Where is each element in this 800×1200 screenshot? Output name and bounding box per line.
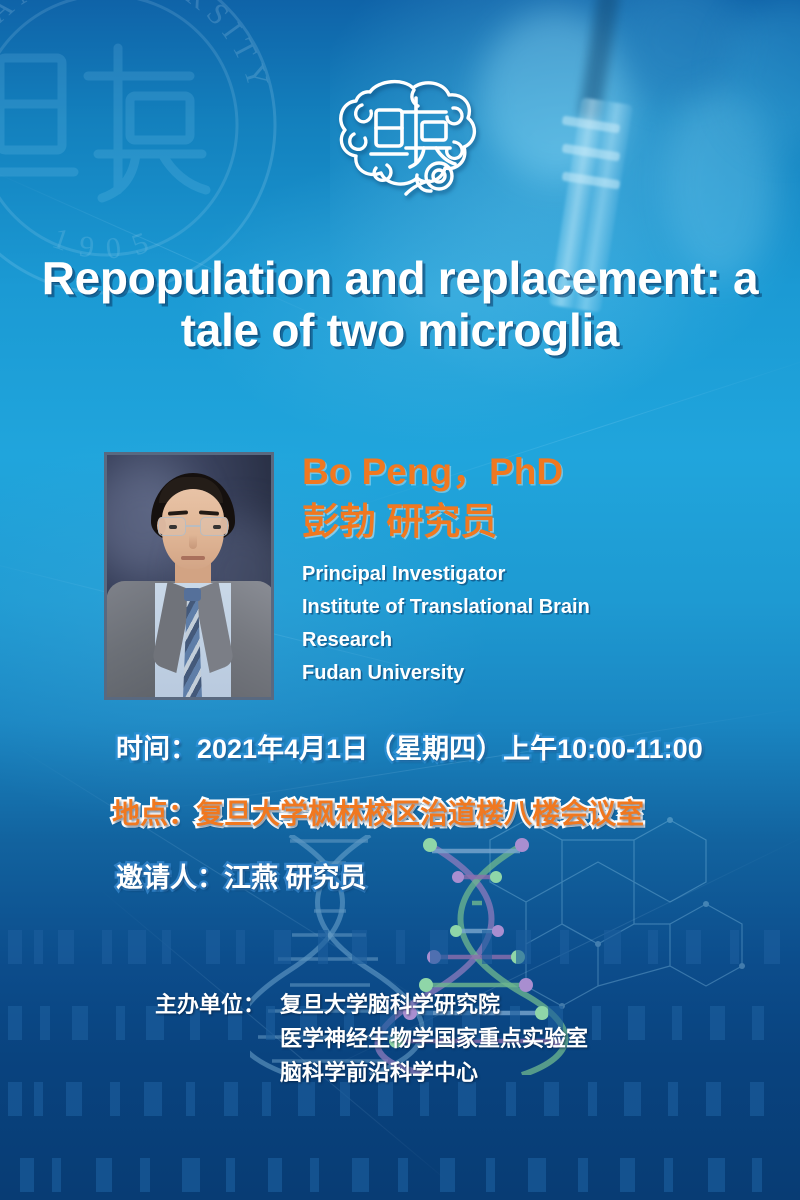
organizer-name: 复旦大学脑科学研究院 <box>280 988 775 1022</box>
event-inviter-line: 邀请人：江燕 研究员 <box>116 856 367 895</box>
organizer-row: 脑科学前沿科学中心 <box>155 1056 775 1090</box>
organizer-name: 医学神经生物学国家重点实验室 <box>280 1022 775 1056</box>
organizers-block: 主办单位： 复旦大学脑科学研究院 医学神经生物学国家重点实验室 脑科学前沿科学中… <box>155 988 775 1090</box>
organizers-label-spacer <box>155 1056 280 1090</box>
affiliation-line: Institute of Translational Brain <box>302 591 742 624</box>
organizer-row: 医学神经生物学国家重点实验室 <box>155 1022 775 1056</box>
background-glow-top <box>330 0 800 420</box>
organizer-name: 脑科学前沿科学中心 <box>280 1056 775 1090</box>
speaker-name-english: Bo Peng，PhD <box>302 450 772 493</box>
poster-title: Repopulation and replacement: a tale of … <box>40 252 760 356</box>
organizer-row: 主办单位： 复旦大学脑科学研究院 <box>155 988 775 1022</box>
speaker-name-chinese: 彭勃 研究员 <box>302 500 772 544</box>
event-location-line: 地点：复旦大学枫林校区治道楼八楼会议室 <box>112 792 644 832</box>
seminar-poster: FUDAN UNIVERSITY 1905 <box>0 0 800 1200</box>
speaker-photo <box>104 452 274 700</box>
organizers-label-spacer <box>155 1022 280 1056</box>
affiliation-line: Principal Investigator <box>302 558 742 591</box>
event-time-line: 时间：2021年4月1日（星期四）上午10:00-11:00 <box>116 727 703 766</box>
svg-text:FUDAN UNIVERSITY: FUDAN UNIVERSITY <box>0 0 277 98</box>
affiliation-line: Research <box>302 624 742 657</box>
affiliation-line: Fudan University <box>302 657 742 690</box>
speaker-affiliation: Principal Investigator Institute of Tran… <box>302 558 742 690</box>
organizers-label: 主办单位： <box>155 988 280 1022</box>
brain-logo-icon <box>318 72 488 207</box>
